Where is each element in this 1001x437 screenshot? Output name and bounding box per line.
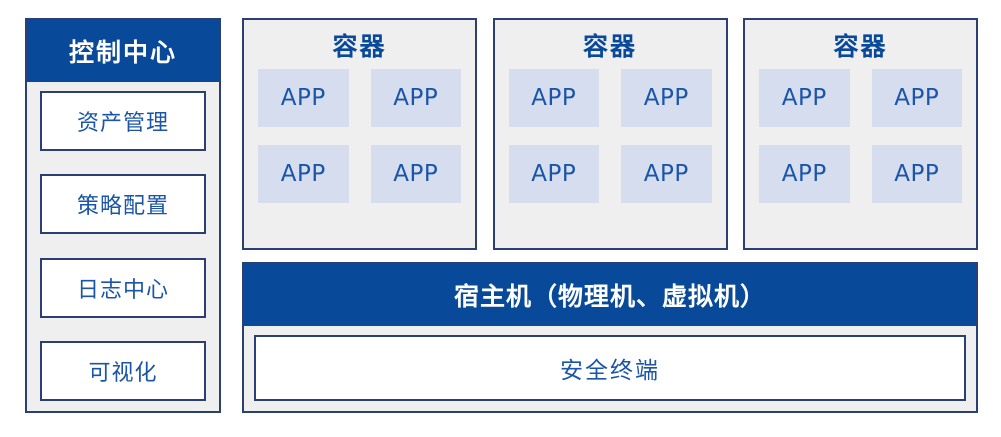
container-title-3: 容器	[833, 34, 887, 59]
control-center-panel: 控制中心 资产管理 策略配置 日志中心 可视化	[25, 18, 221, 413]
app-box[interactable]: APP	[258, 69, 349, 127]
app-grid-2: APP APP APP APP	[495, 69, 726, 217]
host-machine-body: 安全终端	[244, 326, 976, 411]
control-item-asset-management[interactable]: 资产管理	[40, 91, 206, 151]
architecture-diagram: 控制中心 资产管理 策略配置 日志中心 可视化 容器 APP APP APP A…	[0, 0, 1001, 437]
containers-row: 容器 APP APP APP APP 容器 APP APP APP APP	[242, 18, 978, 250]
app-box[interactable]: APP	[872, 69, 963, 127]
app-box[interactable]: APP	[509, 145, 600, 203]
container-box-2: 容器 APP APP APP APP	[493, 18, 728, 250]
control-item-visualization[interactable]: 可视化	[40, 341, 206, 401]
app-box[interactable]: APP	[258, 145, 349, 203]
host-machine-panel: 宿主机（物理机、虚拟机） 安全终端	[242, 262, 978, 413]
app-grid-1: APP APP APP APP	[244, 69, 475, 217]
app-box[interactable]: APP	[872, 145, 963, 203]
app-box[interactable]: APP	[759, 69, 850, 127]
container-title-1: 容器	[332, 34, 386, 59]
host-machine-header: 宿主机（物理机、虚拟机）	[244, 264, 976, 326]
container-box-1: 容器 APP APP APP APP	[242, 18, 477, 250]
control-center-header: 控制中心	[27, 20, 219, 82]
right-area: 容器 APP APP APP APP 容器 APP APP APP APP	[242, 18, 978, 413]
app-box[interactable]: APP	[621, 69, 712, 127]
control-item-log-center[interactable]: 日志中心	[40, 258, 206, 318]
control-item-policy-configuration[interactable]: 策略配置	[40, 174, 206, 234]
security-endpoint-box[interactable]: 安全终端	[254, 335, 966, 401]
app-box[interactable]: APP	[371, 145, 462, 203]
app-grid-3: APP APP APP APP	[745, 69, 976, 217]
app-box[interactable]: APP	[621, 145, 712, 203]
container-box-3: 容器 APP APP APP APP	[743, 18, 978, 250]
app-box[interactable]: APP	[759, 145, 850, 203]
app-box[interactable]: APP	[509, 69, 600, 127]
container-title-2: 容器	[583, 34, 637, 59]
control-center-item-list: 资产管理 策略配置 日志中心 可视化	[27, 82, 219, 411]
app-box[interactable]: APP	[371, 69, 462, 127]
